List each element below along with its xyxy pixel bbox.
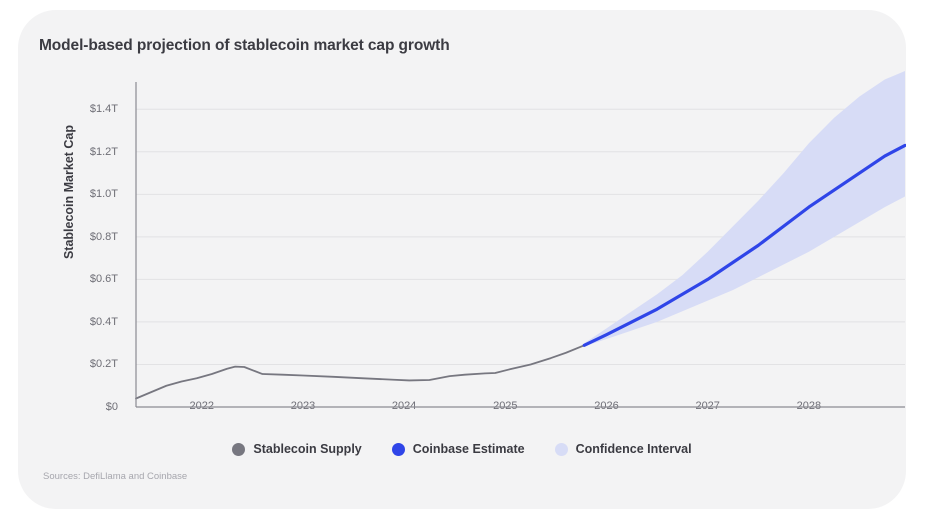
series-line-stablecoin-supply <box>136 345 584 398</box>
legend-label: Coinbase Estimate <box>413 442 525 456</box>
legend-item[interactable]: Coinbase Estimate <box>392 442 525 456</box>
chart-plot-area: Stablecoin Market Cap $0$0.2T$0.4T$0.6T$… <box>18 10 906 430</box>
legend-label: Stablecoin Supply <box>253 442 361 456</box>
legend-label: Confidence Interval <box>576 442 692 456</box>
circle-marker-icon <box>555 443 568 456</box>
chart-canvas <box>18 10 906 430</box>
circle-marker-icon <box>232 443 245 456</box>
chart-card: Model-based projection of stablecoin mar… <box>18 10 906 509</box>
sources-note: Sources: DefiLlama and Coinbase <box>43 471 187 482</box>
legend-item[interactable]: Stablecoin Supply <box>232 442 361 456</box>
chart-legend: Stablecoin SupplyCoinbase EstimateConfid… <box>18 442 906 456</box>
confidence-interval-band <box>584 71 905 346</box>
legend-item[interactable]: Confidence Interval <box>555 442 692 456</box>
circle-marker-icon <box>392 443 405 456</box>
